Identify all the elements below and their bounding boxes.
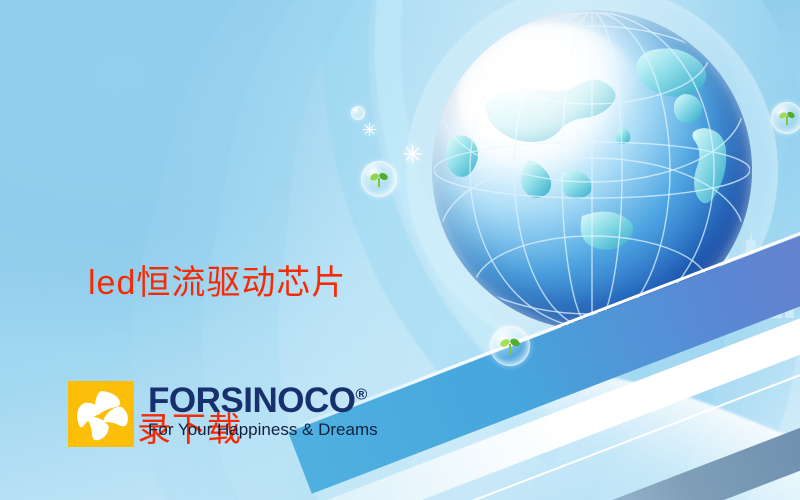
swoosh-band-thin-white bbox=[420, 319, 800, 500]
logo-wordmark-text: FORSINOCO bbox=[148, 381, 355, 420]
logo-text-block: FORSINOCO® For Your Happiness & Dreams bbox=[148, 383, 378, 440]
headline-text: led恒流驱动芯片 目录下载 bbox=[88, 160, 346, 500]
logo-wordmark: FORSINOCO® bbox=[148, 383, 378, 418]
bubble-sprout-center-icon bbox=[490, 326, 530, 366]
bubble-sprout-right-icon bbox=[771, 102, 800, 134]
logo-tagline: For Your Happiness & Dreams bbox=[148, 421, 378, 440]
swoosh-band-blue bbox=[288, 203, 800, 494]
sparkle-upper-icon: ✳ bbox=[362, 121, 377, 139]
company-logo: FORSINOCO® For Your Happiness & Dreams bbox=[68, 381, 378, 447]
swoosh-band-dark bbox=[463, 371, 800, 500]
city-skyline-icon bbox=[680, 228, 800, 318]
swoosh-band-white bbox=[324, 279, 800, 500]
globe-highlight bbox=[458, 23, 644, 177]
forsinoco-petal-mark-icon bbox=[68, 381, 134, 447]
poster-canvas: ✳ ✳ led恒流驱动芯片 目录下载 bbox=[0, 0, 800, 500]
globe-rim bbox=[432, 10, 752, 330]
globe-halo bbox=[406, 0, 778, 356]
light-rays-decoration bbox=[560, 240, 760, 400]
globe-graphic bbox=[432, 10, 752, 330]
globe-sphere bbox=[432, 10, 752, 330]
arc-decoration-right bbox=[514, 0, 800, 496]
sparkle-lower-icon: ✳ bbox=[402, 143, 423, 168]
swoosh-band-sweep bbox=[387, 308, 800, 500]
registered-trademark-symbol: ® bbox=[355, 386, 366, 403]
headline-line-1: led恒流驱动芯片 bbox=[88, 259, 346, 308]
bubble-small-top-icon bbox=[351, 106, 365, 120]
bubble-sprout-left-icon bbox=[361, 161, 397, 197]
